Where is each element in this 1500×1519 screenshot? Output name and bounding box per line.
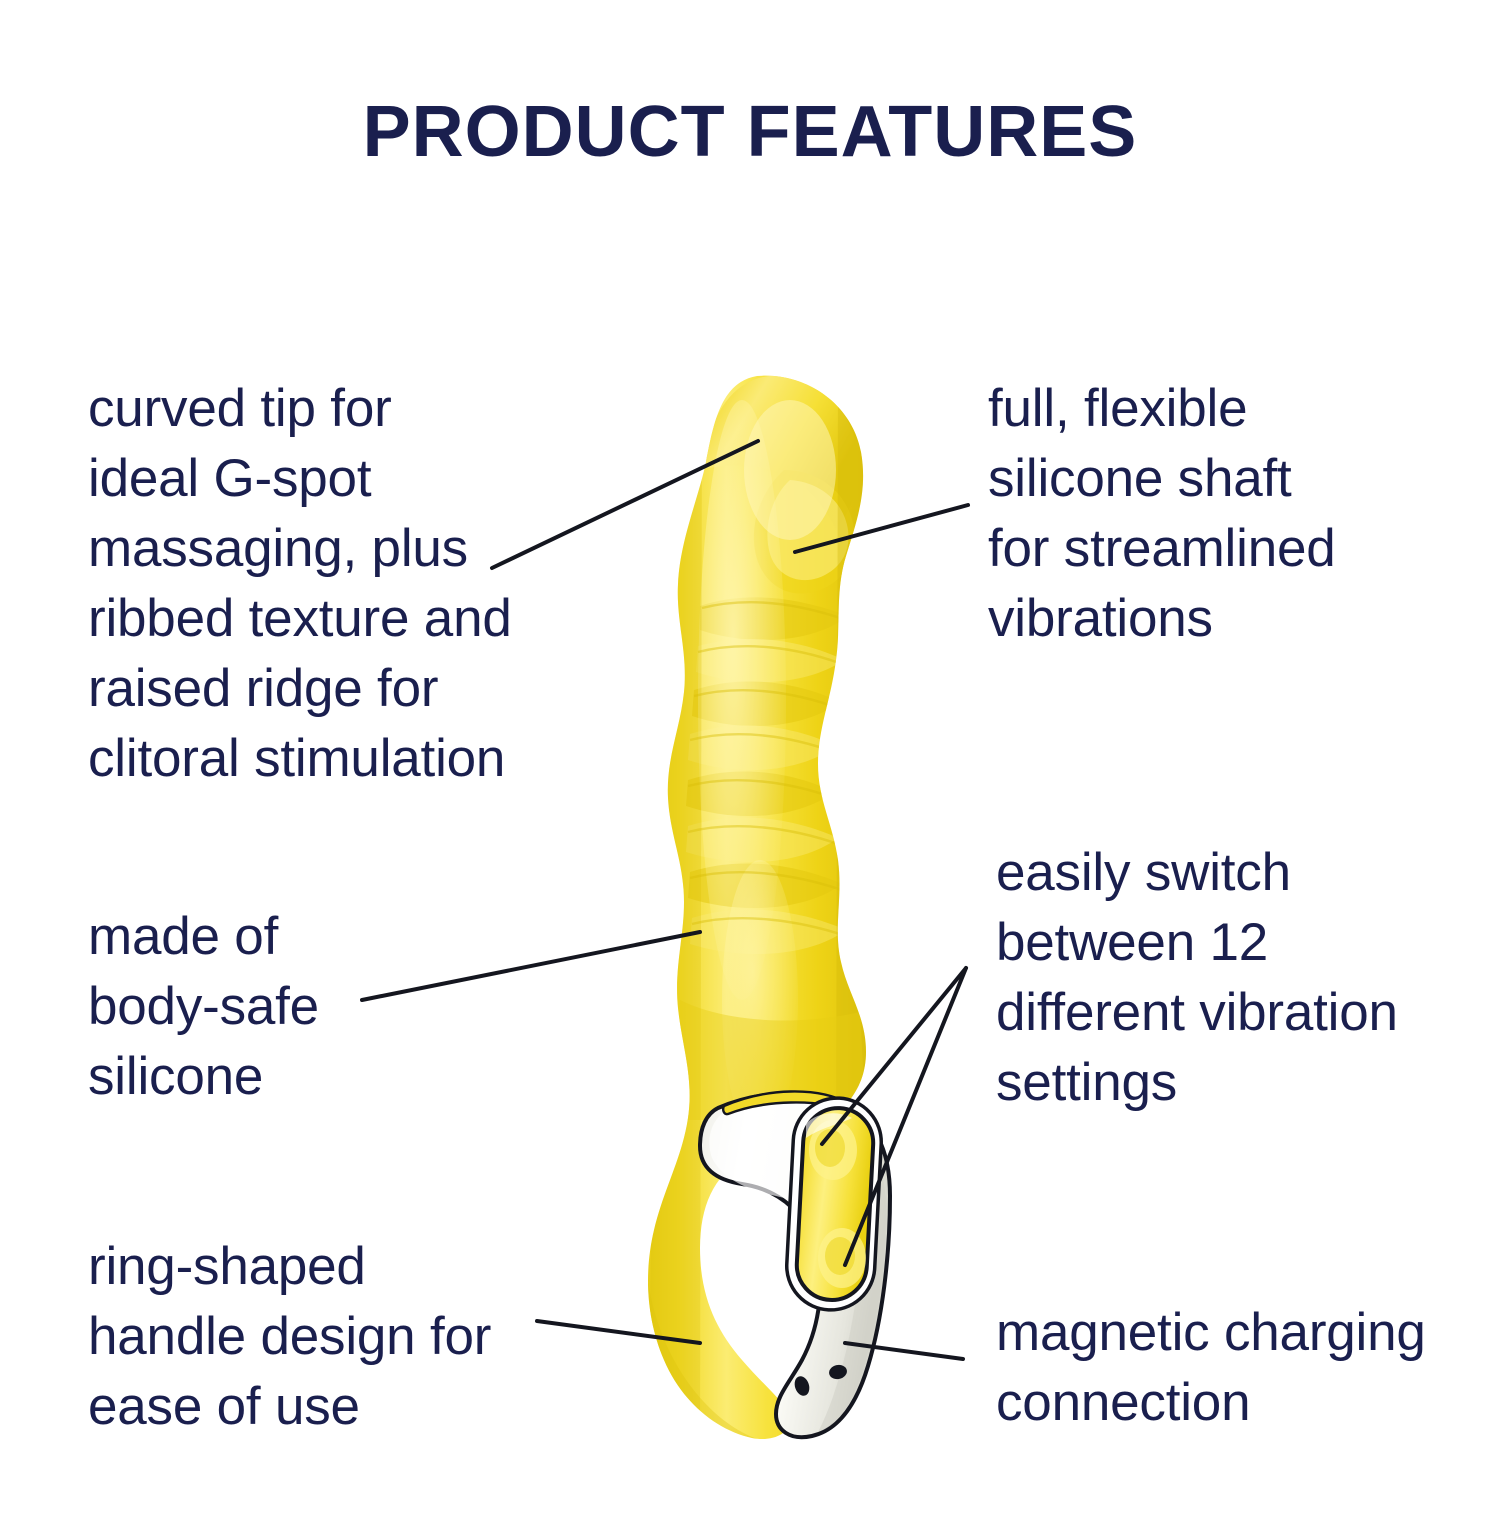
vibration-mode-button-upper[interactable] — [809, 1120, 857, 1180]
silicone-shaft — [640, 376, 872, 1440]
leader-vibration-button-1 — [822, 968, 966, 1144]
product-features-infographic: PRODUCT FEATURES — [0, 0, 1500, 1519]
leader-ring-handle — [537, 1321, 700, 1343]
callout-body-safe-silicone: made of body-safe silicone — [88, 902, 418, 1112]
callout-vibration-settings: easily switch between 12 different vibra… — [996, 838, 1456, 1118]
vibration-mode-button-lower[interactable] — [818, 1228, 866, 1288]
control-panel[interactable] — [785, 1096, 884, 1312]
callout-ring-handle: ring-shaped handle design for ease of us… — [88, 1232, 548, 1442]
leader-flexible-shaft — [795, 505, 968, 552]
page-title: PRODUCT FEATURES — [0, 96, 1500, 168]
callout-curved-tip: curved tip for ideal G-spot massaging, p… — [88, 374, 558, 794]
callout-magnetic-charging: magnetic charging connection — [996, 1298, 1476, 1438]
leader-vibration-button-2 — [845, 968, 966, 1265]
callout-flexible-shaft: full, flexible silicone shaft for stream… — [988, 374, 1408, 654]
magnetic-charging-contacts — [792, 1363, 848, 1397]
ring-handle — [700, 1091, 890, 1437]
leader-magnetic-charging — [845, 1343, 963, 1359]
